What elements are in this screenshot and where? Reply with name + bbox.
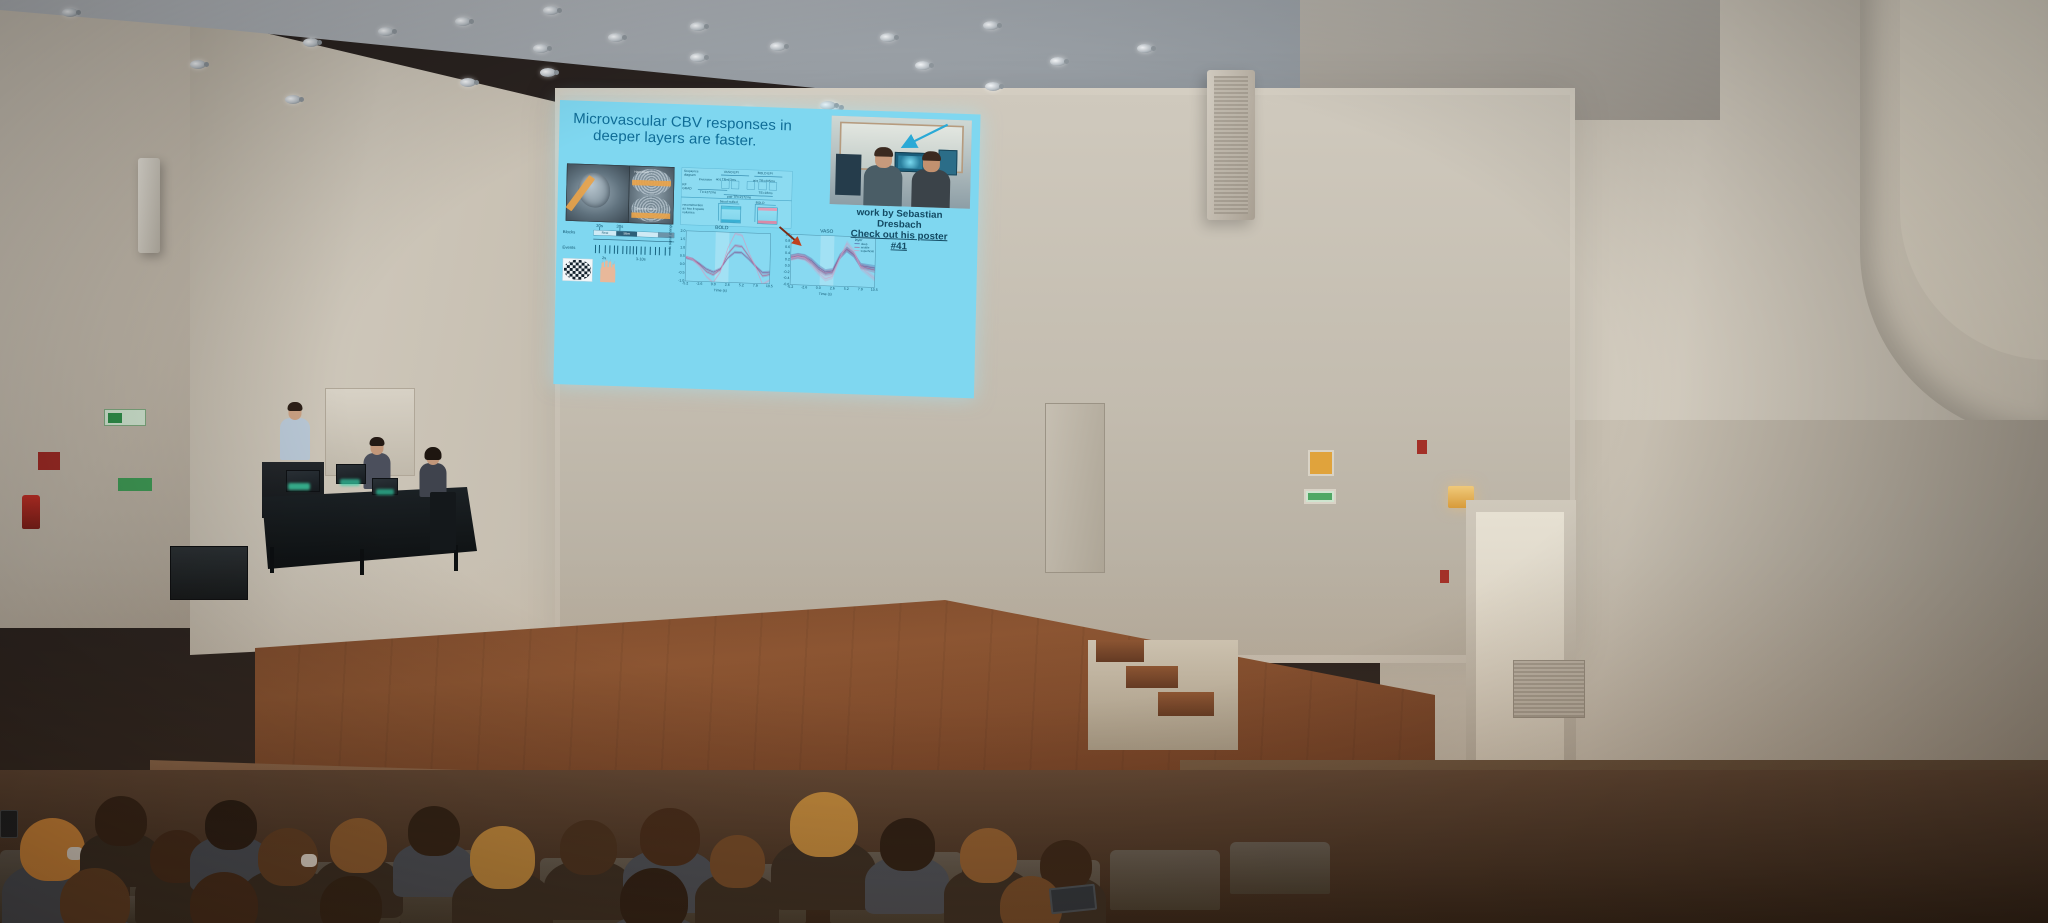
vaso-xlabel: Time (s) — [775, 291, 876, 298]
seated-hair — [370, 437, 385, 446]
ceiling-spotlight-2 — [303, 38, 319, 47]
y-tick-0.0: 0.0 — [785, 264, 790, 268]
x-tick--5.2: -5.2 — [682, 281, 688, 285]
grad-label: GRAD — [682, 187, 692, 191]
audience-head-4 — [205, 800, 257, 850]
person-torso — [863, 165, 902, 207]
cube-band-top — [758, 208, 777, 211]
legend-label-superficial: superficial — [861, 249, 874, 253]
legend-entry-superficial: superficial — [854, 249, 873, 253]
events-label: Events — [562, 245, 575, 250]
ceiling-spotlight-12 — [880, 33, 896, 42]
legend-entries: deepmiddlesuperficial — [854, 242, 874, 253]
ceiling-spotlight-22 — [460, 78, 476, 87]
sagittal-slab-overlay — [566, 175, 596, 211]
blocks-label: Blocks — [563, 229, 576, 234]
exit-sign — [104, 409, 146, 426]
vaso-readout-block — [721, 180, 729, 188]
laptop-glow-1 — [288, 483, 310, 490]
vaso-readout-block-2 — [731, 181, 739, 189]
ceiling-spotlight-3 — [378, 27, 394, 36]
green-wall-sign — [1304, 489, 1336, 504]
event-tick-6 — [617, 246, 618, 254]
bold-kspace-cube — [757, 207, 778, 225]
ceiling-spotlight-7 — [608, 33, 624, 42]
event-tick-9 — [629, 246, 630, 254]
ceiling-spotlight-15 — [985, 82, 1001, 91]
soffit-highlight — [1900, 0, 2048, 360]
bold-series-svg — [685, 231, 770, 284]
auditorium-seat-9 — [1110, 850, 1220, 910]
vaso-chart: VASO layer deepmiddlesuperficial 1.00.80… — [775, 234, 877, 297]
red-wall-box — [38, 452, 60, 470]
projection-screen: Microvascular CBV responses in deeper la… — [560, 100, 990, 400]
y-tick-0.0: 0.0 — [680, 262, 685, 266]
audience-head-14 — [960, 828, 1017, 883]
inversion-label: Inversion — [699, 178, 712, 182]
cube-band-bottom — [721, 219, 740, 222]
events-axis — [593, 239, 674, 242]
stage-chair — [430, 492, 456, 550]
audience-phone[interactable] — [0, 810, 18, 838]
audience-head-12 — [790, 792, 858, 857]
orange-wall-sign — [1308, 450, 1334, 476]
audience-head-6 — [330, 818, 387, 873]
face-mask-5 — [301, 854, 317, 867]
y-tick-1.5: 1.5 — [680, 237, 685, 241]
y-tick-1.0: 1.0 — [680, 245, 685, 249]
x-tick-10.5: 10.5 — [766, 284, 773, 288]
y-tick-0.4: 0.4 — [785, 251, 790, 255]
step-2 — [1126, 666, 1178, 688]
ceiling-spotlight-24 — [190, 60, 206, 69]
lab-photo — [830, 116, 972, 209]
event-tick-7 — [622, 246, 623, 254]
legend-swatch-middle — [855, 247, 860, 248]
slide-content: Microvascular CBV responses in deeper la… — [553, 100, 980, 398]
step-1 — [1096, 640, 1144, 662]
event-tick-17 — [665, 247, 666, 255]
audience-head-11 — [710, 835, 765, 888]
ceiling-spotlight-23 — [540, 68, 556, 77]
block-design-bar: Rest Stim — [593, 230, 674, 238]
x-tick-0.0: 0.0 — [711, 282, 716, 286]
green-emergency-sign — [118, 478, 152, 491]
presenter-standing — [278, 405, 312, 467]
photo-person-left — [861, 148, 905, 206]
ceiling-spotlight-5 — [543, 6, 559, 15]
y-tick-2.0: 2.0 — [680, 229, 685, 233]
ceiling-spotlight-1 — [62, 8, 78, 17]
event-tick-11 — [636, 246, 637, 254]
floor-speaker-left — [170, 546, 248, 600]
event-tick-4 — [609, 245, 610, 253]
event-tick-12 — [641, 246, 642, 254]
wall-vent — [1513, 660, 1585, 718]
laptop-glow-3 — [376, 489, 394, 495]
axial-brain-images: Hand knob Calcarine sulcus — [628, 166, 674, 224]
event-tick-8 — [626, 246, 627, 254]
event-tick-2 — [599, 245, 600, 253]
x-tick-2.6: 2.6 — [830, 286, 835, 290]
right-door-leaf — [1476, 512, 1564, 787]
ceiling-spotlight-4 — [455, 17, 471, 26]
curved-ceiling-soffit — [1860, 0, 2048, 440]
audience-head-2 — [95, 796, 147, 846]
ti-label: TI=1272ms — [700, 190, 716, 194]
x-tick--5.2: -5.2 — [787, 285, 793, 289]
legend-swatch-deep — [855, 243, 860, 244]
event-tick-3 — [605, 245, 606, 253]
vaso-readout-block-3 — [747, 181, 755, 189]
y-tick--0.5: -0.5 — [678, 270, 684, 274]
audience-head-7 — [408, 806, 460, 856]
event-isi-label: 3-10s — [636, 257, 646, 262]
audience-head-10 — [640, 808, 700, 866]
ceiling-spotlight-25 — [285, 95, 301, 104]
bold-readout-block-2 — [769, 182, 777, 190]
x-tick-5.2: 5.2 — [739, 283, 744, 287]
blue-arrow-annotation — [899, 121, 949, 153]
x-tick--2.6: -2.6 — [696, 282, 702, 286]
x-tick-7.9: 7.9 — [753, 284, 758, 288]
legend-swatch-superficial — [854, 250, 859, 251]
y-tick--0.2: -0.2 — [783, 270, 789, 274]
hand-tapping-stimulus — [596, 258, 620, 283]
event-tick-10 — [633, 246, 634, 254]
x-tick-7.9: 7.9 — [858, 287, 863, 291]
event-ticks — [595, 245, 672, 256]
table-leg — [360, 549, 364, 575]
bold-plot-area: 2.01.51.00.50.0-0.5-1.0-5.2-2.60.02.65.2… — [685, 231, 771, 284]
auditorium-seat-10 — [1230, 842, 1330, 894]
vaso-bracket — [721, 175, 749, 176]
y-tick-0.2: 0.2 — [785, 257, 790, 261]
te-label: TE=18ms — [758, 191, 772, 195]
bold-readout-block — [759, 182, 767, 190]
checkerboard-pattern — [564, 259, 592, 280]
event-tick-5 — [614, 246, 615, 254]
recon-line-3: volumes — [682, 211, 694, 215]
left-wall-speaker — [138, 158, 160, 253]
presenter-torso — [280, 418, 310, 460]
block-stim: Stim — [616, 231, 637, 236]
block-rest-2 — [637, 232, 658, 237]
sagittal-brain-image — [566, 164, 629, 222]
brain-anatomy-panel: Hand knob Calcarine sulcus — [566, 163, 675, 224]
x-tick-5.2: 5.2 — [844, 287, 849, 291]
event-tick-14 — [650, 247, 651, 255]
speaker-grill — [1214, 76, 1248, 214]
x-tick--2.6: -2.6 — [801, 285, 807, 289]
block-rest: Rest — [594, 230, 617, 236]
photo-person-right — [907, 152, 956, 208]
ceiling-spotlight-17 — [1137, 44, 1153, 53]
lab-equipment-rack — [835, 154, 861, 196]
red-indicator-light-2 — [1440, 570, 1449, 583]
person-torso — [911, 169, 950, 209]
checkerboard-stimulus — [562, 258, 593, 282]
ceiling-spotlight-6 — [533, 44, 549, 53]
laptop-glow-2 — [340, 479, 360, 486]
event-tick-15 — [655, 247, 656, 255]
fire-extinguisher — [22, 495, 40, 529]
bold-xlabel: Time (s) — [670, 287, 771, 294]
red-arrow-annotation — [778, 226, 807, 250]
ceiling-spotlight-8 — [690, 53, 706, 62]
x-tick-0.0: 0.0 — [816, 286, 821, 290]
audience-head-19 — [620, 868, 688, 923]
ceiling-spotlight-10 — [770, 42, 786, 51]
bold-bracket — [754, 176, 782, 177]
bold-chart: BOLD 2.01.51.00.50.0-0.5-1.0-5.2-2.60.02… — [670, 230, 772, 293]
credit-line-4: #41 — [891, 240, 908, 251]
ceiling-spotlight-9 — [690, 22, 706, 31]
cube-band-top — [722, 206, 741, 209]
ceiling-spotlight-16 — [1050, 57, 1066, 66]
red-indicator-light — [1417, 440, 1427, 454]
event-tick-1 — [595, 245, 596, 253]
x-tick-2.6: 2.6 — [725, 283, 730, 287]
person-hair — [874, 147, 893, 157]
audience-area — [0, 700, 1420, 923]
event-tick-16 — [659, 247, 660, 255]
event-tick-13 — [644, 247, 645, 255]
lecture-hall-scene: Microvascular CBV responses in deeper la… — [0, 0, 2048, 923]
table-leg — [270, 547, 274, 573]
hand-knob-label: Hand knob — [634, 170, 648, 174]
seated-hair — [425, 447, 442, 460]
sequence-diagram-panel: Sequence diagram Inversion RF GRAD VASO … — [680, 167, 792, 228]
cube-band-bottom — [758, 220, 777, 223]
audience-tablet[interactable] — [1049, 884, 1097, 915]
presenter-hair — [288, 402, 303, 411]
audience-head-9 — [560, 820, 617, 875]
y-tick--0.4: -0.4 — [783, 276, 789, 280]
x-tick-10.5: 10.5 — [871, 288, 878, 292]
vaso-legend: layer deepmiddlesuperficial — [854, 238, 874, 253]
sequence-heading-2: diagram — [684, 173, 696, 177]
y-tick-0.5: 0.5 — [680, 254, 685, 258]
audience-head-13 — [880, 818, 935, 871]
ceiling-spotlight-14 — [983, 21, 999, 30]
wall-access-panel — [1045, 403, 1105, 573]
blood-nulled-kspace-cube — [721, 206, 742, 224]
audience-head-8 — [470, 826, 535, 889]
bold-ylabel: % signal change — [668, 224, 673, 250]
ceiling-spotlight-13 — [915, 61, 931, 70]
right-wall-speaker — [1207, 70, 1255, 220]
